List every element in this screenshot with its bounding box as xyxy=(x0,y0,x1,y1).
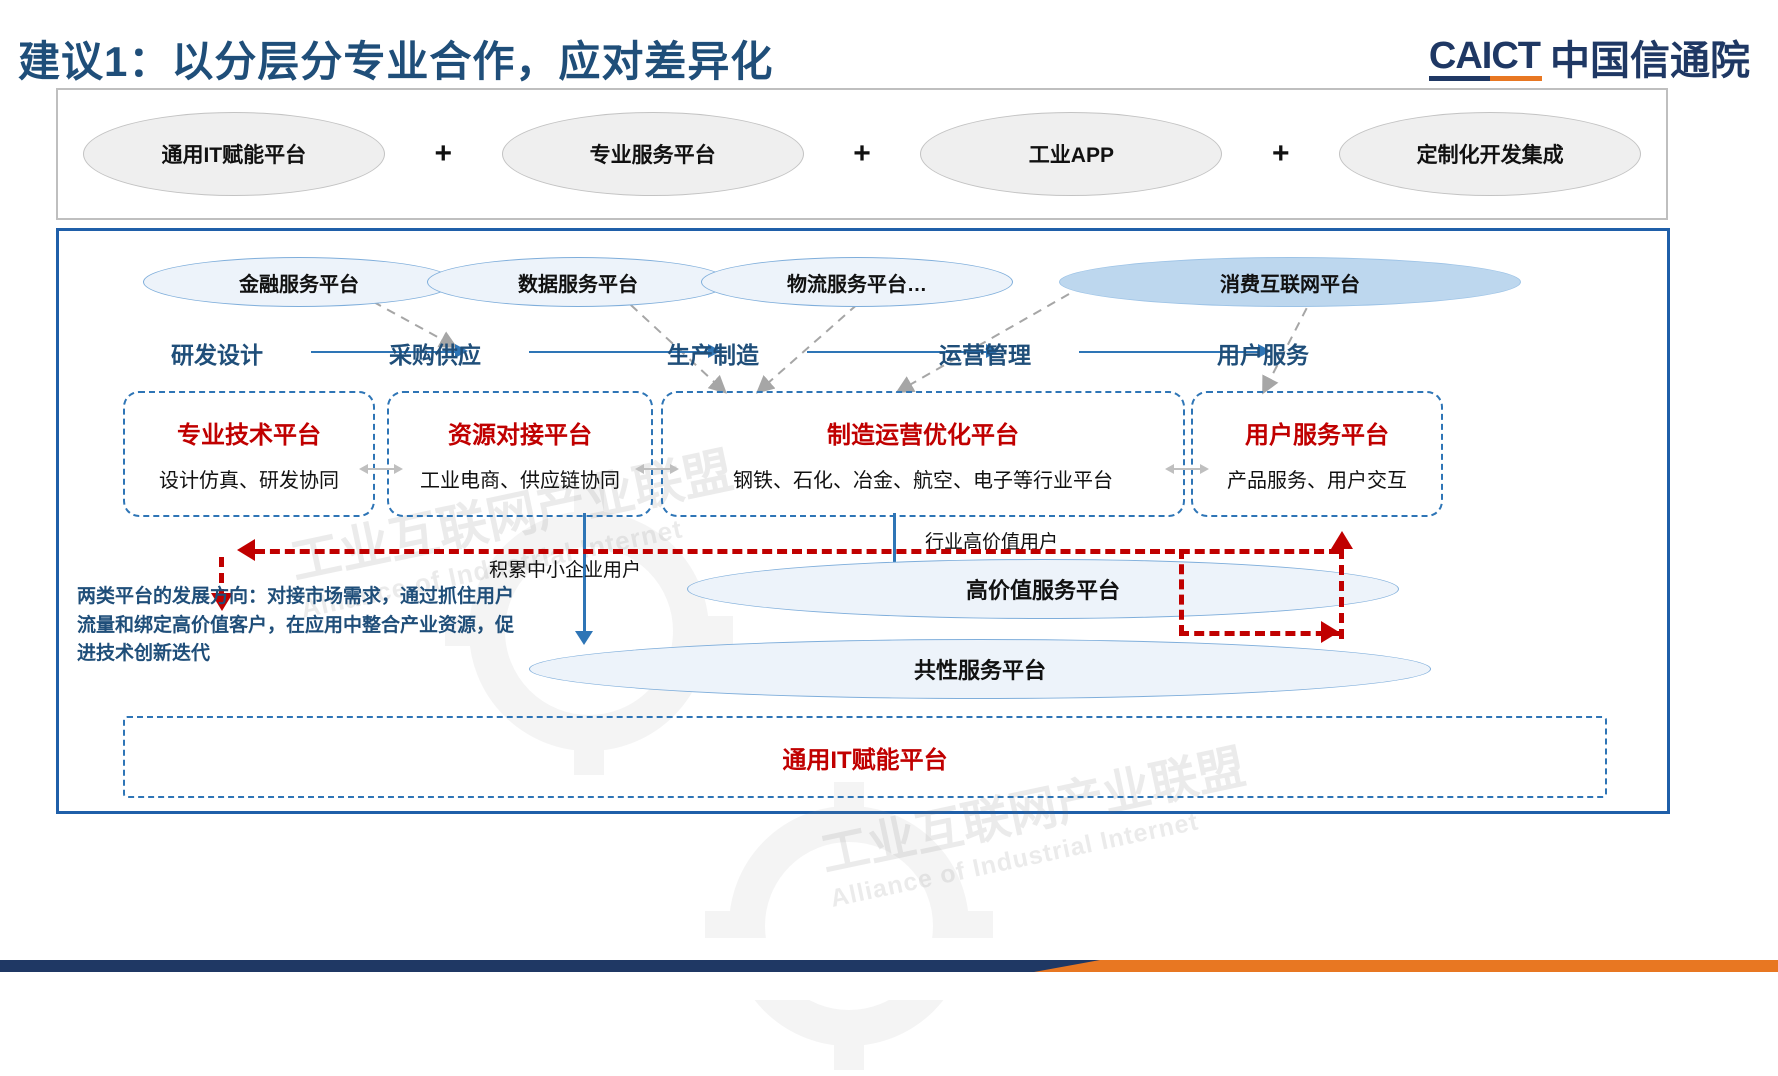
bidirectional-arrow-1 xyxy=(635,463,679,475)
sme-flow-arrow xyxy=(575,631,593,645)
capability-stack-panel: 通用IT赋能平台 + 专业服务平台 + 工业APP + 定制化开发集成 xyxy=(56,88,1668,220)
process-step-4: 用户服务 xyxy=(1217,336,1309,370)
bidirectional-arrow-0 xyxy=(359,463,403,475)
foundation-platform-label: 通用IT赋能平台 xyxy=(782,740,947,775)
process-step-0: 研发设计 xyxy=(171,336,263,370)
plus-sign-0: + xyxy=(434,137,452,171)
platform-box-2-desc: 钢铁、石化、冶金、航空、电子等行业平台 xyxy=(733,464,1113,493)
page-title: 建议1：以分层分专业合作，应对差异化 xyxy=(18,28,773,89)
service-platform-1[interactable]: 数据服务平台 xyxy=(427,257,729,307)
watermark-bottom-en: Alliance of Industrial Internet xyxy=(828,796,1257,914)
platform-box-3[interactable]: 用户服务平台 产品服务、用户交互 xyxy=(1191,391,1443,517)
capability-item-0[interactable]: 通用IT赋能平台 xyxy=(83,112,385,196)
red-feedback-up-arrow xyxy=(1331,531,1353,549)
platform-box-2[interactable]: 制造运营优化平台 钢铁、石化、冶金、航空、电子等行业平台 xyxy=(661,391,1185,517)
red-feedback-right-arrow xyxy=(1321,621,1339,643)
plus-sign-2: + xyxy=(1272,137,1290,171)
lower-ellipse-common[interactable]: 共性服务平台 xyxy=(529,639,1431,699)
red-feedback-left-arrow xyxy=(237,539,255,561)
red-feedback-inner-vertical xyxy=(1179,549,1184,635)
process-step-3: 运营管理 xyxy=(939,336,1031,370)
service-platform-3[interactable]: 消费互联网平台 xyxy=(1059,257,1521,307)
direction-note: 两类平台的发展方向：对接市场需求，通过抓住用户流量和绑定高价值客户，在应用中整合… xyxy=(77,583,527,669)
process-step-2: 生产制造 xyxy=(667,336,759,370)
gear-icon-secondary xyxy=(699,776,999,1076)
caict-logo: CAICT 中国信通院 xyxy=(1429,38,1750,81)
sme-users-label: 积累中小企业用户 xyxy=(489,555,641,582)
process-step-1: 采购供应 xyxy=(389,336,481,370)
platform-box-0[interactable]: 专业技术平台 设计仿真、研发协同 xyxy=(123,391,375,517)
capability-item-0-label: 通用IT赋能平台 xyxy=(161,139,306,169)
platform-box-3-desc: 产品服务、用户交互 xyxy=(1227,464,1407,493)
service-platform-1-label: 数据服务平台 xyxy=(518,268,638,297)
platform-box-2-title: 制造运营优化平台 xyxy=(827,415,1019,450)
footer-decoration xyxy=(0,938,1778,1000)
service-platform-2-label: 物流服务平台… xyxy=(787,268,927,297)
plus-sign-1: + xyxy=(853,137,871,171)
platform-box-1[interactable]: 资源对接平台 工业电商、供应链协同 xyxy=(387,391,653,517)
red-feedback-top-line xyxy=(255,549,1339,554)
capability-item-1-label: 专业服务平台 xyxy=(590,139,716,169)
footer-blue-band xyxy=(0,960,1100,972)
lower-ellipse-common-label: 共性服务平台 xyxy=(914,653,1046,685)
capability-item-2[interactable]: 工业APP xyxy=(920,112,1222,196)
logo-chinese-text: 中国信通院 xyxy=(1550,41,1750,81)
capability-item-3-label: 定制化开发集成 xyxy=(1417,139,1564,169)
foundation-platform-box[interactable]: 通用IT赋能平台 xyxy=(123,716,1607,798)
capability-item-3[interactable]: 定制化开发集成 xyxy=(1339,112,1641,196)
architecture-panel: 工业互联网产业联盟 Alliance of Industrial Interne… xyxy=(56,228,1670,814)
platform-box-0-title: 专业技术平台 xyxy=(177,415,321,450)
bidirectional-arrow-2 xyxy=(1165,463,1209,475)
service-platform-0-label: 金融服务平台 xyxy=(239,268,359,297)
service-platform-2[interactable]: 物流服务平台… xyxy=(701,257,1013,307)
logo-latin-text: CAICT xyxy=(1429,38,1540,81)
platform-box-1-desc: 工业电商、供应链协同 xyxy=(420,464,620,493)
platform-box-3-title: 用户服务平台 xyxy=(1245,415,1389,450)
lower-ellipse-high-value[interactable]: 高价值服务平台 xyxy=(687,559,1399,619)
platform-box-1-title: 资源对接平台 xyxy=(448,415,592,450)
capability-item-1[interactable]: 专业服务平台 xyxy=(502,112,804,196)
service-platform-0[interactable]: 金融服务平台 xyxy=(143,257,455,307)
red-feedback-right-vertical xyxy=(1339,549,1344,639)
capability-item-2-label: 工业APP xyxy=(1029,139,1114,169)
lower-ellipse-high-value-label: 高价值服务平台 xyxy=(966,573,1120,605)
platform-box-0-desc: 设计仿真、研发协同 xyxy=(159,464,339,493)
service-platform-3-label: 消费互联网平台 xyxy=(1220,268,1360,297)
red-feedback-inner-line xyxy=(1179,631,1341,636)
